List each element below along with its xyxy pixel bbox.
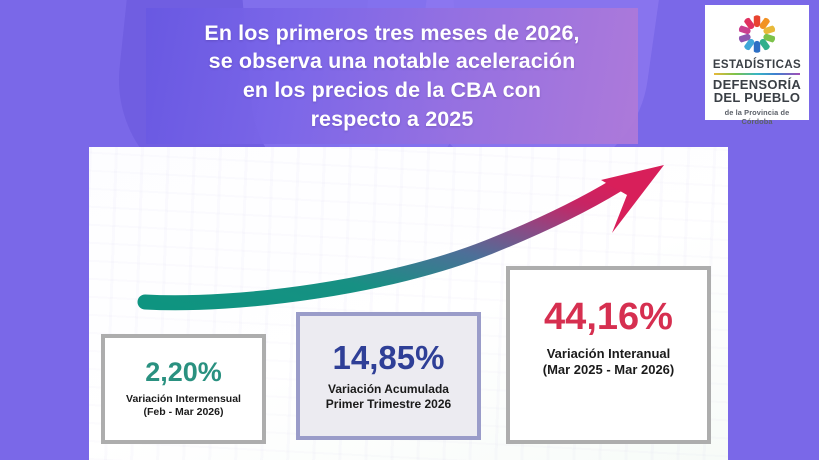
logo-color-rule [714, 73, 800, 75]
infographic-canvas: En los primeros tres meses de 2026, se o… [0, 0, 819, 460]
stat-label: Variación Interanual (Mar 2025 - Mar 202… [543, 346, 675, 378]
logo-line-defensoria: DEFENSORÍA [709, 78, 805, 91]
stat-value: 44,16% [544, 298, 673, 336]
chart-panel: 2,20% Variación Intermensual (Feb - Mar … [89, 147, 728, 460]
stat-label: Variación Intermensual (Feb - Mar 2026) [126, 393, 241, 419]
stat-card-acumulada: 14,85% Variación Acumulada Primer Trimes… [296, 312, 481, 440]
estadisticas-circular-logo-icon [734, 11, 780, 57]
stat-value: 14,85% [333, 341, 445, 374]
stat-label: Variación Acumulada Primer Trimestre 202… [326, 382, 451, 411]
organization-logo: ESTADÍSTICAS DEFENSORÍA DEL PUEBLO de la… [705, 5, 809, 120]
stat-card-interanual: 44,16% Variación Interanual (Mar 2025 - … [506, 266, 711, 444]
logo-line-estadisticas: ESTADÍSTICAS [709, 59, 805, 71]
headline-band: En los primeros tres meses de 2026, se o… [146, 8, 638, 144]
stat-value: 2,20% [145, 359, 222, 386]
stat-card-intermensual: 2,20% Variación Intermensual (Feb - Mar … [101, 334, 266, 444]
logo-line-provincia: de la Provincia de Córdoba [709, 108, 805, 126]
headline-text: En los primeros tres meses de 2026, se o… [204, 19, 579, 133]
logo-line-del-pueblo: DEL PUEBLO [709, 91, 805, 104]
